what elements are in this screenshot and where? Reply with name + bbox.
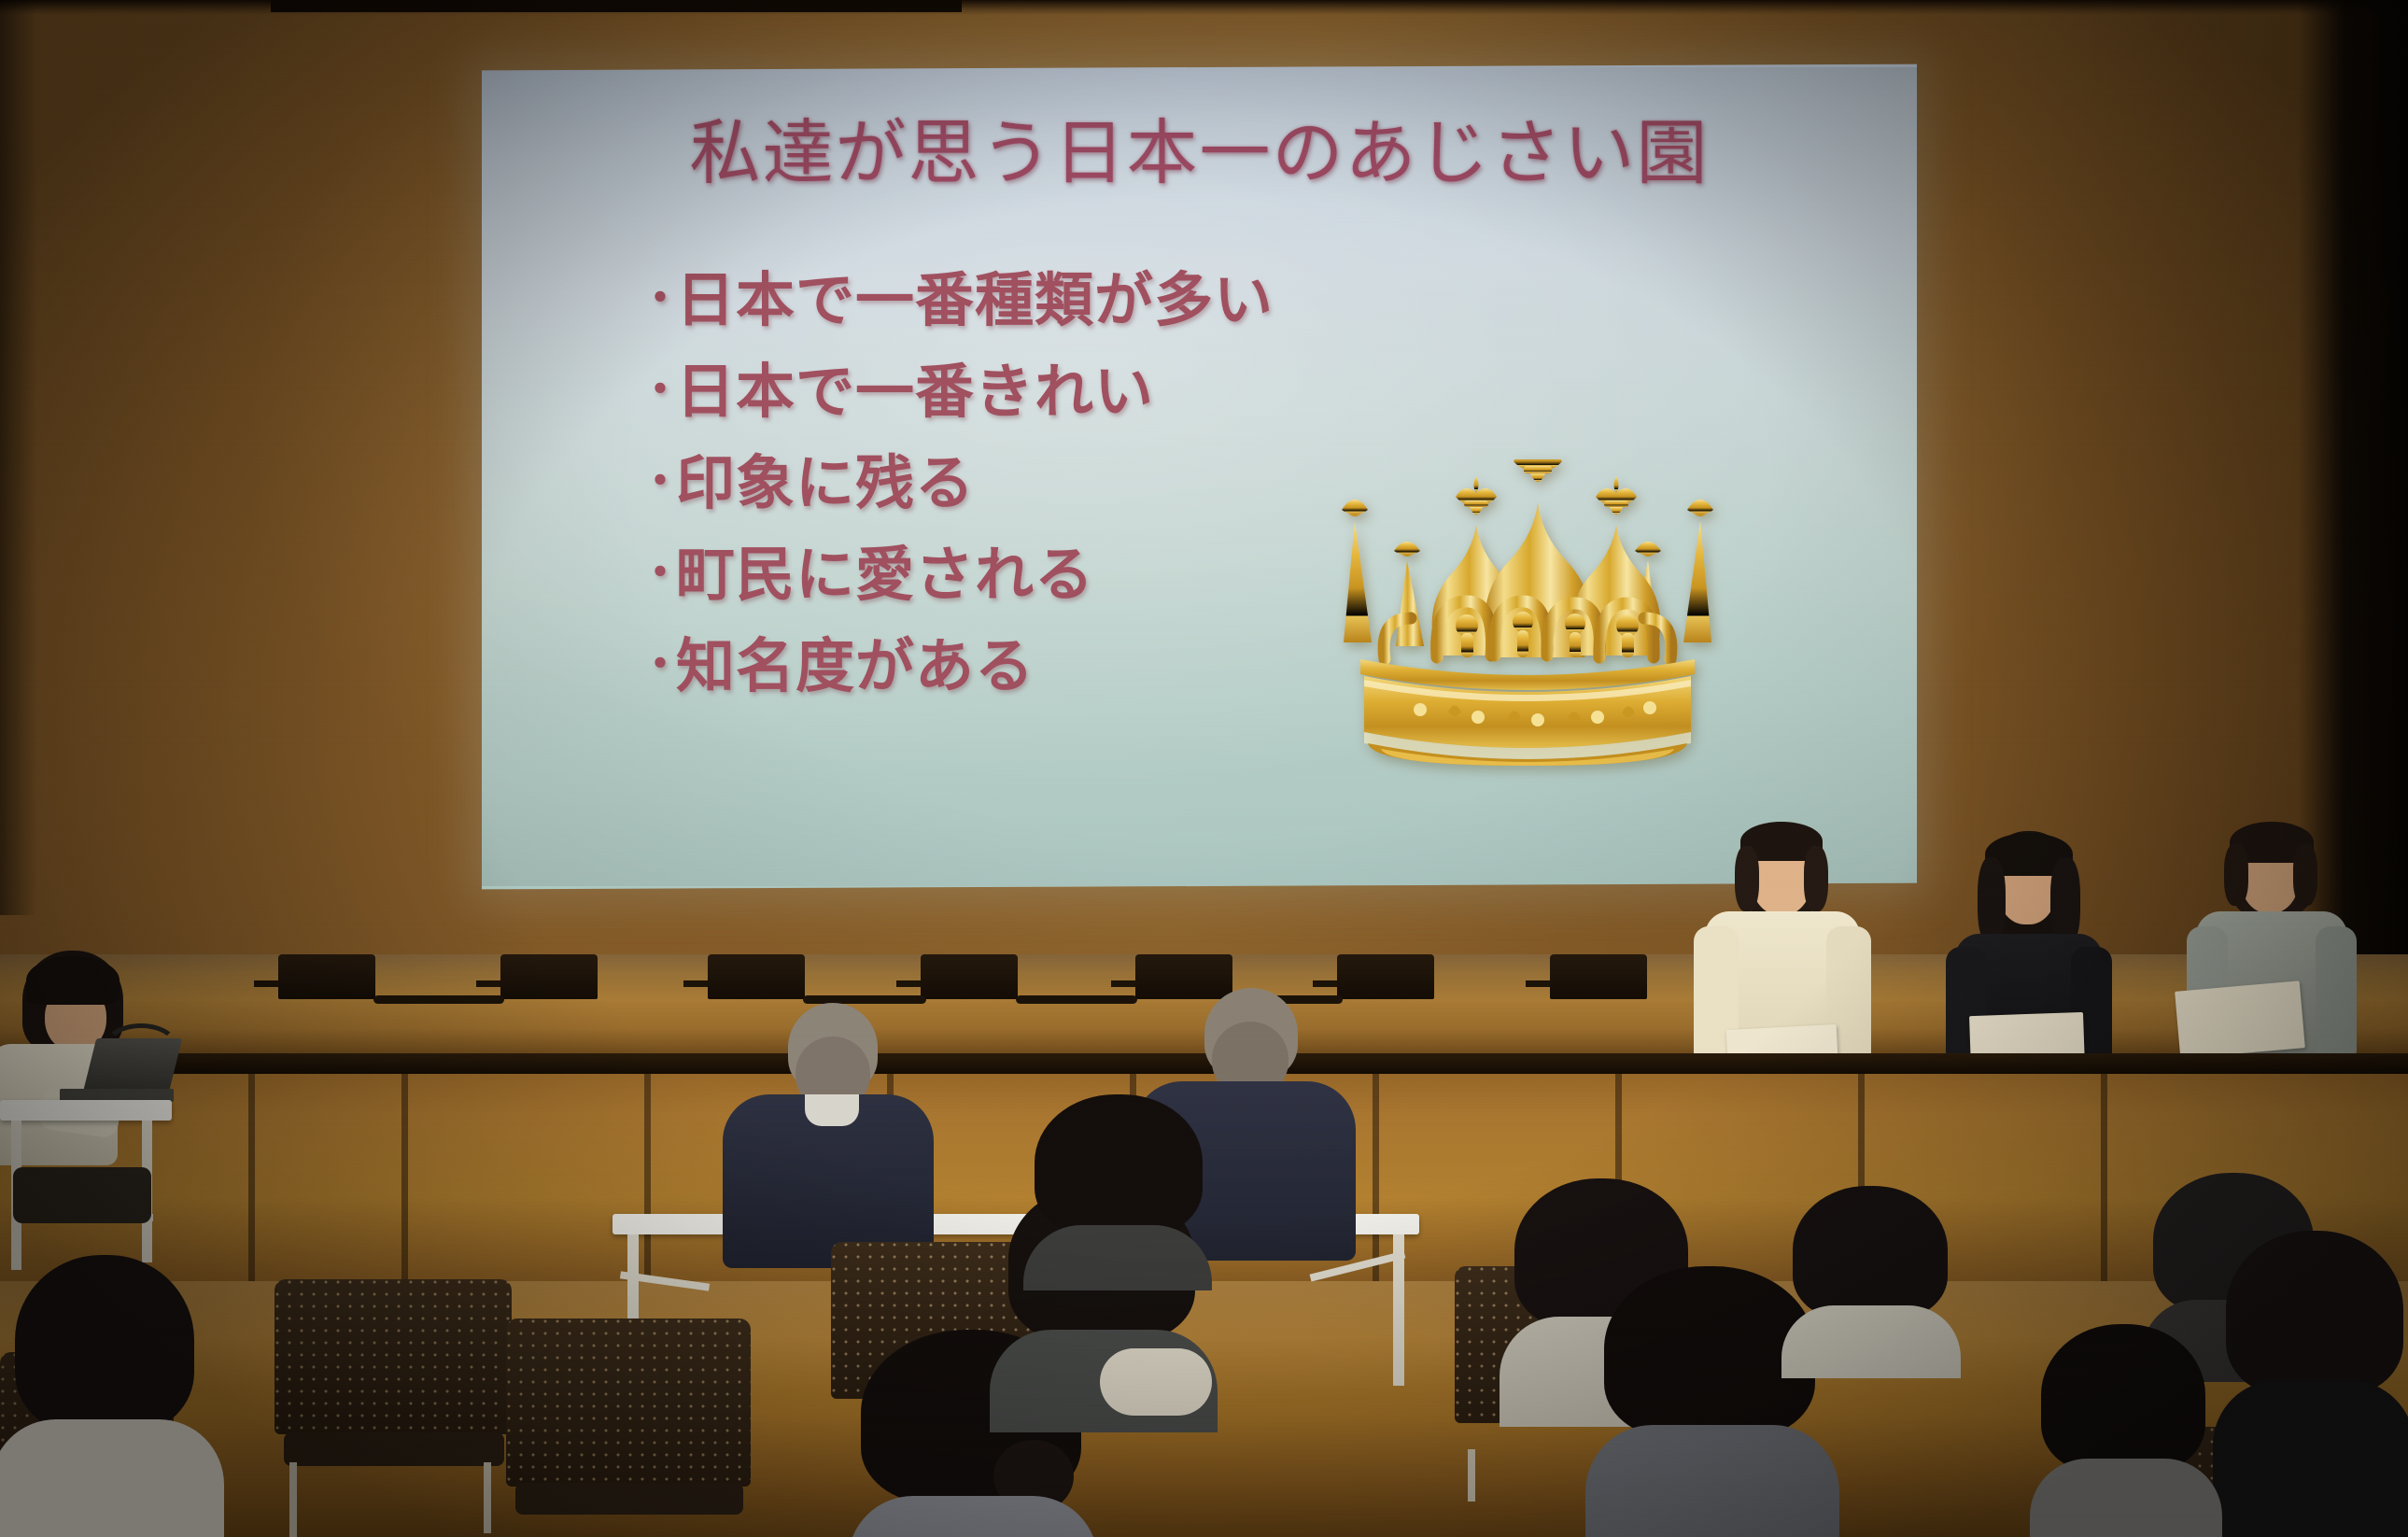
audience-member [2035,1324,2218,1537]
torso [0,1419,224,1537]
wall-shadow-left [0,0,37,915]
wall-panel-seam [644,1074,651,1287]
footlight-cable [1016,995,1137,1004]
script-paper [2175,980,2305,1058]
hair-side [1735,846,1759,911]
hair [2226,1231,2403,1395]
judge-1 [715,1003,939,1283]
wall-panel-seam [248,1074,255,1287]
operator-table [0,1100,172,1121]
wall-panel-seam [401,1074,408,1287]
wall-panel-seam [2101,1074,2107,1287]
hair [2041,1324,2205,1472]
torso [1585,1425,1839,1537]
list-item: ・ 印象に残る [639,452,1274,515]
footlight [921,954,1018,999]
list-item: ・ 日本で一番種類が多い [639,269,1274,332]
presentation-scene: 私達が思う日本一のあじさい園 ・ 日本で一番種類が多い ・ 日本で一番きれい ・… [0,0,2408,1537]
arm-right [2316,926,2357,1065]
audience-member [2222,1231,2408,1537]
bullet-marker-icon: ・ [639,269,676,328]
hair-fringe [26,956,120,1005]
bullet-text: 日本で一番きれい [676,360,1154,424]
bullet-marker-icon: ・ [639,543,676,602]
bullet-marker-icon: ・ [639,360,676,419]
list-item: ・ 町民に愛される [639,543,1274,607]
torso [2030,1459,2222,1537]
slide-bullet-list: ・ 日本で一番種類が多い ・ 日本で一番きれい ・ 印象に残る ・ 町民に愛され… [639,269,1274,726]
hair-side [2293,844,2317,906]
footlight [708,954,805,999]
slide-title: 私達が思う日本一のあじさい園 [482,95,1917,198]
list-item: ・ 日本で一番きれい [639,360,1274,424]
list-item: ・ 知名度がある [639,635,1274,698]
shirt-collar [805,1094,859,1126]
audience-chair[interactable] [500,1318,758,1537]
torso [1023,1225,1212,1290]
torso [2213,1380,2408,1537]
bullet-text: 印象に残る [676,452,975,515]
hair [1035,1094,1203,1236]
bullet-text: 日本で一番種類が多い [676,269,1274,332]
hair [1793,1186,1948,1318]
hair-side [1804,846,1828,911]
torso [1781,1305,1961,1378]
audience-member [1023,1094,1214,1272]
scarf [1100,1348,1212,1416]
bullet-marker-icon: ・ [639,635,676,694]
projection-screen: 私達が思う日本一のあじさい園 ・ 日本で一番種類が多い ・ 日本で一番きれい ・… [482,64,1917,890]
bag-under-table [13,1167,151,1223]
audience-member [1785,1186,1961,1373]
audience-chair[interactable] [267,1279,519,1537]
cable [103,1023,179,1074]
footlight [500,954,598,999]
hair-side [1978,857,2006,945]
footlight-cable [373,995,504,1004]
hair-side [2224,844,2248,906]
wall-panel-seam [1373,1074,1379,1287]
footlight [1550,954,1647,999]
torso [848,1496,1098,1537]
bullet-text: 町民に愛される [676,543,1094,607]
hair [15,1255,194,1432]
ceiling-beam [271,0,962,12]
bullet-marker-icon: ・ [639,452,676,511]
footlight [278,954,375,999]
bullet-text: 知名度がある [676,635,1035,698]
crown-icon [1327,459,1728,768]
audience-member [0,1255,215,1537]
